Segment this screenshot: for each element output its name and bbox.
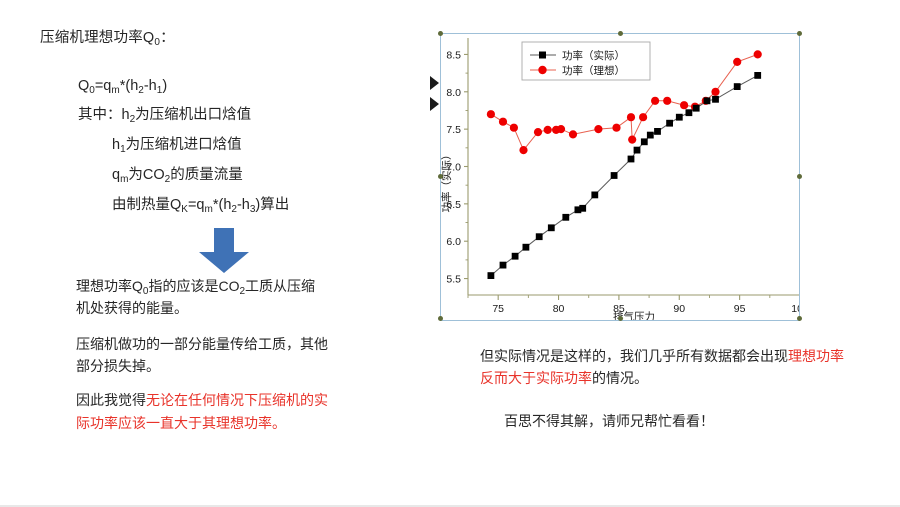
paragraph-conclusion: 因此我觉得无论在任何情况下压缩机的实际功率应该一直大于其理想功率。 xyxy=(76,389,328,433)
paragraph-observation: 但实际情况是这样的，我们几乎所有数据都会出现理想功率反而大于实际功率的情况。 xyxy=(480,345,855,390)
legend-marker-ideal xyxy=(538,66,546,74)
paragraph-ideal-power-meaning: 理想功率Q0指的应该是CO2工质从压缩机处获得的能量。 xyxy=(76,275,328,319)
data-point xyxy=(651,97,659,105)
chart-canvas: 5.56.06.57.07.58.08.5 7580859095100 功率（实… xyxy=(440,33,800,321)
formula-line-2: 其中：h2为压缩机出口焓值 xyxy=(78,101,415,131)
pointer-arrow-icon-bottom xyxy=(430,97,439,111)
data-point xyxy=(693,105,700,112)
data-point xyxy=(569,130,577,138)
resize-handle-middle-left[interactable] xyxy=(438,174,443,179)
data-point xyxy=(711,88,719,96)
paragraph-closing-request: 百思不得其解，请师兄帮忙看看！ xyxy=(480,410,855,432)
data-point xyxy=(639,113,647,121)
data-point xyxy=(733,58,741,66)
resize-handle-bottom-left[interactable] xyxy=(438,316,443,321)
data-point xyxy=(704,97,711,104)
legend-label-ideal: 功率（理想） xyxy=(562,64,625,77)
data-point xyxy=(500,262,507,269)
y-tick-label: 5.5 xyxy=(446,274,461,286)
data-point xyxy=(591,192,598,199)
data-point xyxy=(634,147,641,154)
data-point xyxy=(557,125,565,133)
data-point xyxy=(534,128,542,136)
data-point xyxy=(627,113,635,121)
legend-label-actual: 功率（实际） xyxy=(562,49,625,62)
pointer-arrow-icon-top xyxy=(430,76,439,90)
left-content-column: 压缩机理想功率Q0： Q0=qm*(h2-h1) 其中：h2为压缩机出口焓值 h… xyxy=(40,28,415,220)
chart-legend[interactable]: 功率（实际） 功率（理想） xyxy=(522,42,650,80)
data-point xyxy=(579,205,586,212)
data-point xyxy=(611,172,618,179)
resize-handle-bottom-right[interactable] xyxy=(797,316,802,321)
data-point xyxy=(612,124,620,132)
down-arrow-icon xyxy=(196,228,252,274)
data-point xyxy=(594,125,602,133)
right-content-column: 但实际情况是这样的，我们几乎所有数据都会出现理想功率反而大于实际功率的情况。 百… xyxy=(480,345,855,446)
x-tick-label: 80 xyxy=(553,303,565,315)
x-axis-ticks xyxy=(468,295,800,300)
paragraph-energy-transfer: 压缩机做功的一部分能量传给工质，其他部分损失掉。 xyxy=(76,333,328,377)
data-point xyxy=(654,128,661,135)
presentation-slide: 压缩机理想功率Q0： Q0=qm*(h2-h1) 其中：h2为压缩机出口焓值 h… xyxy=(0,0,900,507)
data-point xyxy=(548,224,555,231)
y-tick-label: 8.5 xyxy=(446,49,461,61)
data-point xyxy=(510,124,518,132)
data-point xyxy=(676,114,683,121)
data-point xyxy=(628,156,635,163)
y-axis-title: 功率（实际） xyxy=(440,150,453,213)
data-point xyxy=(488,272,495,279)
data-point xyxy=(562,214,569,221)
resize-handle-top-center[interactable] xyxy=(618,31,623,36)
formula-line-5: 由制热量QK=qm*(h2-h3)算出 xyxy=(78,191,415,221)
data-point xyxy=(754,72,761,79)
resize-handle-middle-right[interactable] xyxy=(797,174,802,179)
x-tick-label: 75 xyxy=(492,303,504,315)
data-point xyxy=(523,244,530,251)
data-point xyxy=(712,96,719,103)
observation-tail: 的情况。 xyxy=(592,370,648,386)
ideal-power-heading: 压缩机理想功率Q0： xyxy=(40,28,415,50)
data-point xyxy=(499,118,507,126)
power-comparison-chart[interactable]: 5.56.06.57.07.58.08.5 7580859095100 功率（实… xyxy=(440,33,800,321)
data-point xyxy=(647,132,654,139)
series-line-actual xyxy=(491,75,758,275)
data-point xyxy=(544,126,552,134)
data-point xyxy=(487,110,495,118)
data-point xyxy=(536,233,543,240)
data-point xyxy=(734,83,741,90)
observation-lead: 但实际情况是这样的，我们几乎所有数据都会出现 xyxy=(480,348,788,364)
legend-marker-actual xyxy=(539,52,546,59)
x-tick-label: 90 xyxy=(673,303,685,315)
resize-handle-bottom-center[interactable] xyxy=(618,316,623,321)
data-point xyxy=(686,109,693,116)
y-tick-label: 7.5 xyxy=(446,124,461,136)
data-point xyxy=(512,253,519,260)
formula-block: Q0=qm*(h2-h1) 其中：h2为压缩机出口焓值 h1为压缩机进口焓值 q… xyxy=(40,72,415,221)
data-point xyxy=(519,146,527,154)
data-point xyxy=(680,101,688,109)
x-tick-label: 95 xyxy=(734,303,746,315)
y-tick-label: 6.0 xyxy=(446,236,461,248)
data-point xyxy=(666,120,673,127)
resize-handle-top-left[interactable] xyxy=(438,31,443,36)
data-point xyxy=(663,97,671,105)
data-point xyxy=(628,136,636,144)
data-point xyxy=(641,138,648,145)
conclusion-lead: 因此我觉得 xyxy=(76,392,146,408)
formula-line-4: qm为CO2的质量流量 xyxy=(78,161,415,191)
formula-line-3: h1为压缩机进口焓值 xyxy=(78,131,415,161)
resize-handle-top-right[interactable] xyxy=(797,31,802,36)
series-markers-actual xyxy=(488,72,762,279)
x-tick-label: 100 xyxy=(791,303,800,315)
y-tick-label: 8.0 xyxy=(446,87,461,99)
y-axis-ticks xyxy=(464,54,468,278)
data-point xyxy=(754,50,762,58)
explanation-paragraphs: 理想功率Q0指的应该是CO2工质从压缩机处获得的能量。 压缩机做功的一部分能量传… xyxy=(76,275,328,448)
formula-line-1: Q0=qm*(h2-h1) xyxy=(78,72,415,102)
